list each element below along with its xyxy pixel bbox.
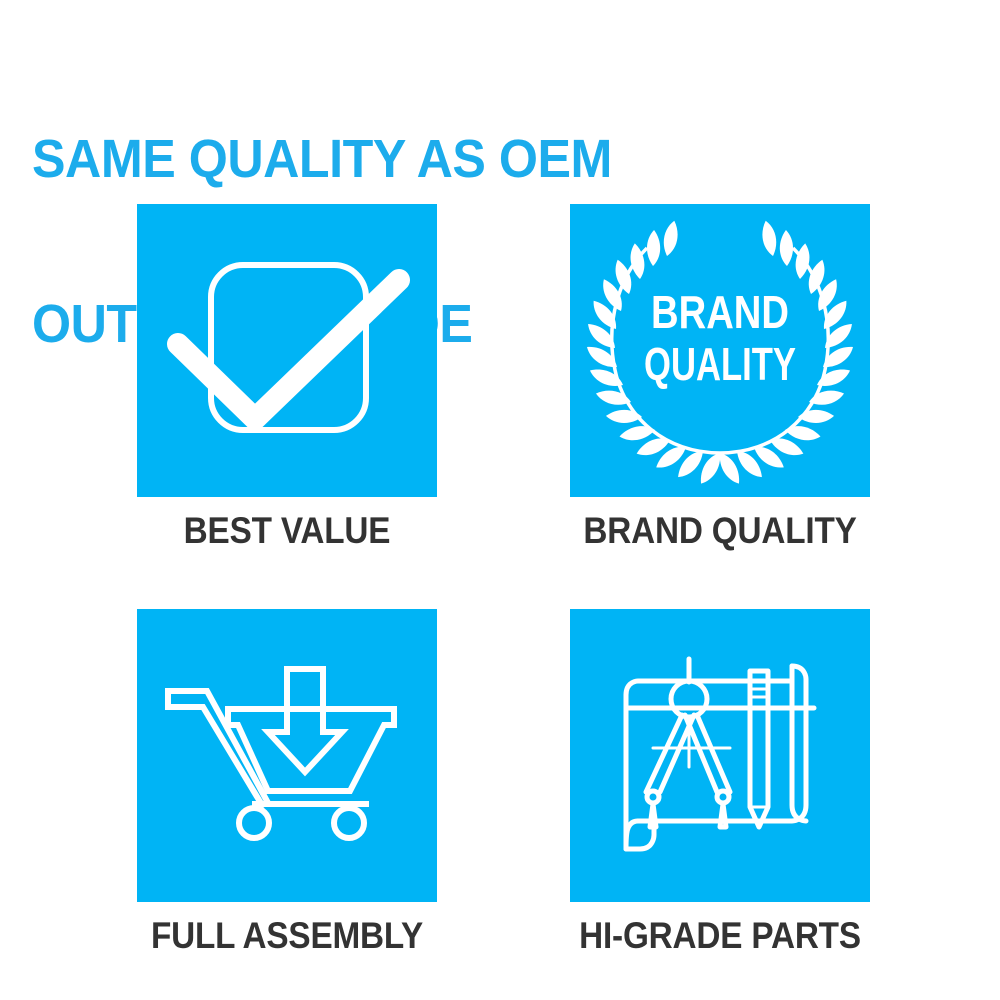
shopping-cart-download-icon xyxy=(137,609,437,902)
headline-line-1: SAME QUALITY AS OEM xyxy=(32,132,850,187)
feature-caption: BRAND QUALITY xyxy=(531,511,909,551)
feature-card-best-value[interactable]: BEST VALUE xyxy=(77,204,497,551)
infographic-page: SAME QUALITY AS OEM OUTSIDE + INSIDE BES… xyxy=(0,0,1000,1000)
feature-caption: FULL ASSEMBLY xyxy=(98,916,476,956)
feature-card-full-assembly[interactable]: FULL ASSEMBLY xyxy=(77,609,497,956)
feature-icon-tile xyxy=(570,609,870,902)
feature-card-brand-quality[interactable]: BRAND QUALITY BRAND QUALITY xyxy=(510,204,930,551)
feature-card-hi-grade-parts[interactable]: HI-GRADE PARTS xyxy=(510,609,930,956)
wreath-label-line-2: QUALITY xyxy=(644,338,796,390)
feature-icon-tile: BRAND QUALITY xyxy=(570,204,870,497)
feature-icon-tile xyxy=(137,609,437,902)
feature-caption: BEST VALUE xyxy=(98,511,476,551)
wreath-label-line-1: BRAND xyxy=(651,286,789,338)
checkbox-check-icon xyxy=(137,204,437,497)
feature-caption: HI-GRADE PARTS xyxy=(531,916,909,956)
feature-icon-tile xyxy=(137,204,437,497)
blueprint-compass-pencil-icon xyxy=(570,609,870,902)
laurel-wreath-icon: BRAND QUALITY xyxy=(570,204,870,497)
